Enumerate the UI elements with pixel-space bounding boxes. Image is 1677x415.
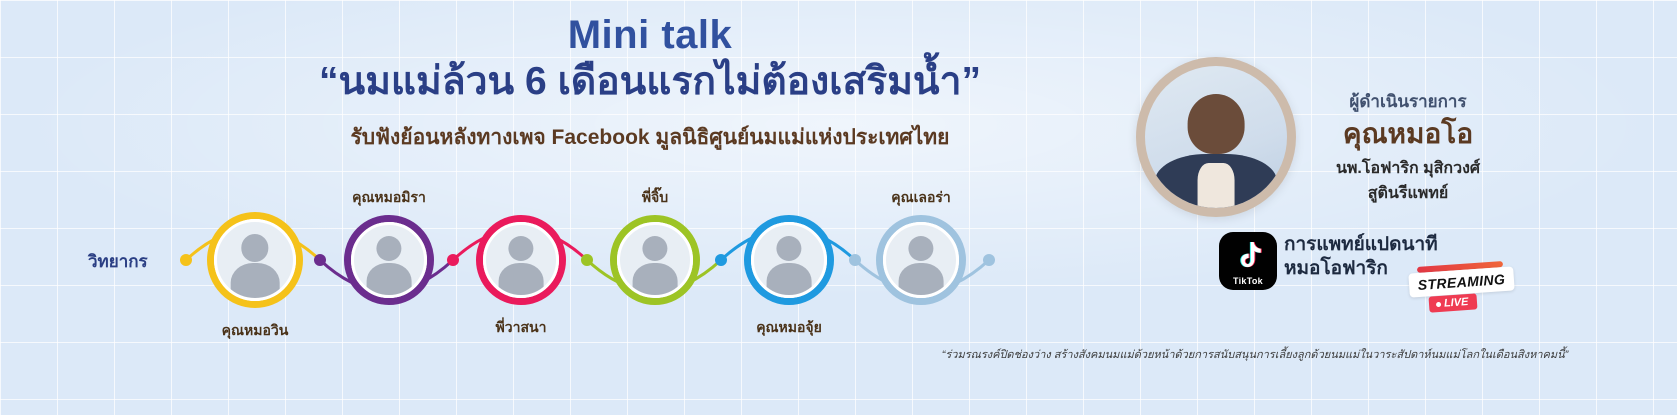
speaker-avatar[interactable] bbox=[344, 215, 434, 305]
host-fullname: นพ.โอฟาริก มุสิกวงศ์ bbox=[1268, 156, 1548, 181]
host-specialty: สูตินรีแพทย์ bbox=[1268, 181, 1548, 206]
streaming-label: STREAMING bbox=[1417, 271, 1506, 293]
speaker-photo bbox=[617, 222, 693, 298]
speaker-timeline: คุณหมอวินคุณหมอมิราพี่วาสนาพี่จิ๊บคุณหมอ… bbox=[0, 185, 1050, 345]
speaker-name-label: คุณหมอวิน bbox=[175, 320, 335, 342]
host-info: ผู้ดำเนินรายการ คุณหมอโอ นพ.โอฟาริก มุสิ… bbox=[1268, 88, 1548, 206]
live-dot-icon bbox=[1436, 301, 1441, 306]
live-badge: LIVE bbox=[1429, 293, 1478, 312]
speaker-photo bbox=[751, 222, 827, 298]
speaker-name-label: คุณหมอมิรา bbox=[309, 187, 469, 209]
host-photo-image bbox=[1145, 66, 1287, 208]
speaker-name-label: คุณเลอร่า bbox=[841, 187, 1001, 209]
headline-block: Mini talk “นมแม่ล้วน 6 เดือนแรกไม่ต้องเส… bbox=[230, 14, 1070, 154]
subtitle: รับฟังย้อนหลังทางเพจ Facebook มูลนิธิศูน… bbox=[230, 121, 1070, 154]
tiktok-logo[interactable]: TikTok bbox=[1219, 232, 1277, 290]
speaker-name-label: คุณหมอจุ้ย bbox=[709, 317, 869, 339]
host-head-shape bbox=[1188, 94, 1245, 154]
title-thai: “นมแม่ล้วน 6 เดือนแรกไม่ต้องเสริมน้ำ” bbox=[230, 58, 1070, 107]
channel-line-1: การแพทย์แปดนาที bbox=[1284, 233, 1438, 257]
tiktok-note-icon bbox=[1233, 240, 1263, 272]
timeline-dot bbox=[983, 254, 995, 266]
timeline-dot bbox=[849, 254, 861, 266]
streaming-badge: STREAMING LIVE bbox=[1409, 264, 1514, 310]
speaker-avatar[interactable] bbox=[476, 215, 566, 305]
speaker-name-label: พี่จิ๊บ bbox=[575, 187, 735, 209]
speaker-photo bbox=[883, 222, 959, 298]
tiktok-wordmark: TikTok bbox=[1233, 276, 1263, 286]
speaker-avatar[interactable] bbox=[876, 215, 966, 305]
timeline-dot bbox=[715, 254, 727, 266]
speaker-name-label: พี่วาสนา bbox=[441, 317, 601, 339]
speaker-avatar[interactable] bbox=[610, 215, 700, 305]
timeline-dot bbox=[581, 254, 593, 266]
live-label: LIVE bbox=[1444, 296, 1469, 310]
speaker-avatar[interactable] bbox=[744, 215, 834, 305]
promo-banner: Mini talk “นมแม่ล้วน 6 เดือนแรกไม่ต้องเส… bbox=[0, 0, 1677, 415]
host-nickname: คุณหมอโอ bbox=[1268, 119, 1548, 150]
tiktok-icon: TikTok bbox=[1219, 232, 1277, 290]
host-role: ผู้ดำเนินรายการ bbox=[1268, 88, 1548, 115]
bottom-caption: “ร่วมรณรงค์ปิดช่องว่าง สร้างสังคมนมแม่ด้… bbox=[840, 345, 1670, 363]
timeline-dot bbox=[314, 254, 326, 266]
title-english: Mini talk bbox=[230, 14, 1070, 56]
speaker-avatar[interactable] bbox=[207, 212, 303, 308]
timeline-dot bbox=[180, 254, 192, 266]
speaker-photo bbox=[351, 222, 427, 298]
host-shirt-shape bbox=[1198, 163, 1235, 208]
timeline-dot bbox=[447, 254, 459, 266]
speaker-photo bbox=[214, 219, 296, 301]
speaker-photo bbox=[483, 222, 559, 298]
